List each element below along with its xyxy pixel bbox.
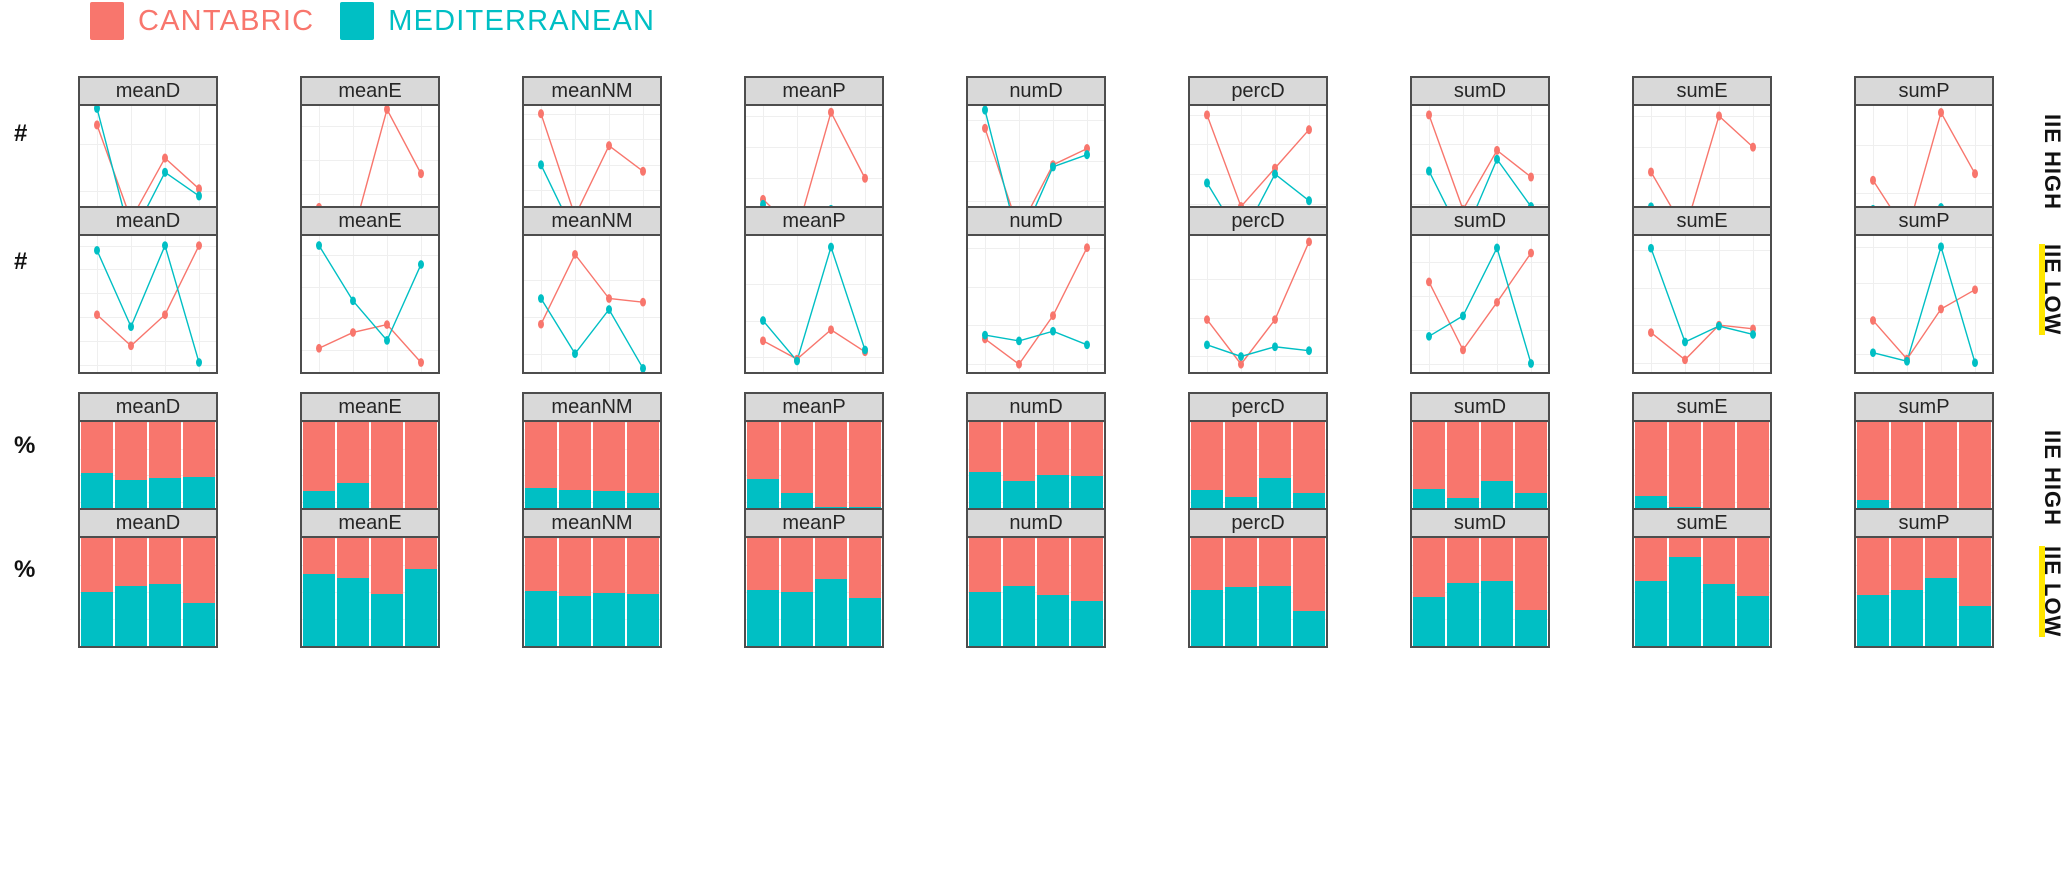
data-point-mediterranean bbox=[1870, 348, 1876, 357]
plot-area-bar-low-meanE: 0.000.250.500.751.00winsprsumaut bbox=[300, 538, 440, 648]
y-tick-mark bbox=[78, 470, 80, 472]
y-tick-mark bbox=[1410, 189, 1412, 191]
y-tick-mark bbox=[522, 567, 524, 569]
stacked-bar bbox=[815, 538, 846, 646]
x-tick-mark bbox=[609, 646, 611, 648]
data-point-mediterranean bbox=[384, 336, 390, 345]
x-tick-mark bbox=[1907, 372, 1909, 374]
y-tick-mark bbox=[300, 151, 302, 153]
y-axis-line-low-meanP: 81012 bbox=[744, 266, 746, 372]
y-tick-mark bbox=[1188, 329, 1190, 331]
bar-segment-cantabric bbox=[815, 538, 846, 579]
x-tick-mark bbox=[387, 646, 389, 648]
data-point-cantabric bbox=[162, 310, 168, 319]
legend-item-mediterranean: MEDITERRANEAN bbox=[340, 2, 655, 40]
bar-segment-cantabric bbox=[815, 422, 846, 507]
data-point-mediterranean bbox=[418, 260, 424, 269]
x-axis-bar-low-percD: winsprsumaut bbox=[1190, 646, 1326, 648]
x-axis-line-low-meanD: winsprsumaut bbox=[80, 372, 216, 374]
stacked-bar bbox=[405, 538, 436, 646]
y-axis-line-low-meanNM: 1.31.41.5 bbox=[522, 266, 524, 372]
strip-meanD: meanD bbox=[78, 76, 218, 106]
panel-line-low-percD: percD468winsprsumaut bbox=[1188, 206, 1328, 374]
x-tick-mark bbox=[319, 372, 321, 374]
bar-segment-cantabric bbox=[1071, 422, 1102, 476]
x-tick-mark bbox=[1275, 372, 1277, 374]
line-series-group bbox=[746, 236, 882, 372]
x-tick-mark bbox=[1275, 646, 1277, 648]
stacked-bar bbox=[1515, 538, 1546, 646]
chart-band-line-low: #IIE LOWmeanD3.54.04.55.05.56.0winsprsum… bbox=[0, 206, 2067, 374]
y-axis-bar-low-meanNM: 0.000.250.500.751.00 bbox=[522, 568, 524, 646]
stacked-bar bbox=[747, 538, 778, 646]
data-point-cantabric bbox=[1716, 111, 1722, 120]
strip-numD: numD bbox=[966, 508, 1106, 538]
data-point-mediterranean bbox=[1050, 162, 1056, 171]
bar-segment-mediterranean bbox=[371, 594, 402, 646]
y-tick-mark bbox=[300, 354, 302, 356]
plot-area-bar-low-sumD: 0.000.250.500.751.00winsprsumaut bbox=[1410, 538, 1550, 648]
strip-label-sumD: sumD bbox=[1454, 512, 1506, 535]
strip-label-sumE: sumE bbox=[1676, 80, 1727, 103]
x-tick-mark bbox=[1019, 372, 1021, 374]
data-point-cantabric bbox=[1494, 146, 1500, 155]
data-point-mediterranean bbox=[538, 294, 544, 303]
bar-segment-cantabric bbox=[1191, 422, 1222, 490]
strip-meanE: meanE bbox=[300, 76, 440, 106]
y-tick-mark bbox=[744, 606, 746, 608]
data-point-cantabric bbox=[1204, 110, 1210, 119]
bar-segment-cantabric bbox=[1635, 538, 1666, 581]
bar-segment-mediterranean bbox=[525, 591, 556, 646]
panel-bar-low-meanP: meanP0.000.250.500.751.00winsprsumaut bbox=[744, 508, 884, 648]
plot-area-bar-low-sumE: 0.000.250.500.751.00winsprsumaut bbox=[1632, 538, 1772, 648]
bar-segment-cantabric bbox=[1413, 422, 1444, 489]
bar-segment-mediterranean bbox=[1447, 583, 1478, 646]
data-point-cantabric bbox=[1972, 285, 1978, 294]
bar-segment-cantabric bbox=[1293, 538, 1324, 611]
strip-label-percD: percD bbox=[1231, 210, 1284, 233]
y-tick-mark bbox=[1410, 338, 1412, 340]
bar-segment-cantabric bbox=[1071, 538, 1102, 601]
x-tick-mark bbox=[165, 646, 167, 648]
strip-label-meanP: meanP bbox=[782, 396, 845, 419]
data-point-cantabric bbox=[1306, 237, 1312, 246]
panel-bar-low-sumD: sumD0.000.250.500.751.00winsprsumaut bbox=[1410, 508, 1550, 648]
x-tick-mark bbox=[131, 646, 133, 648]
strip-sumP: sumP bbox=[1854, 206, 1994, 236]
figure-root: CANTABRIC MEDITERRANEAN #IIE HIGHmeanD12… bbox=[0, 0, 2067, 889]
data-point-cantabric bbox=[1050, 311, 1056, 320]
data-point-mediterranean bbox=[862, 346, 868, 355]
row-label-line-low: IIE LOW bbox=[2039, 244, 2065, 335]
y-axis-bar-low-meanP: 0.000.250.500.751.00 bbox=[744, 568, 746, 646]
strip-label-meanE: meanE bbox=[338, 80, 401, 103]
y-tick-mark bbox=[1854, 606, 1856, 608]
y-tick-mark bbox=[1410, 470, 1412, 472]
y-tick-mark bbox=[744, 626, 746, 628]
y-axis-line-low-percD: 468 bbox=[1188, 266, 1190, 372]
data-point-cantabric bbox=[1750, 143, 1756, 152]
strip-label-meanNM: meanNM bbox=[551, 512, 632, 535]
y-tick-mark bbox=[1632, 489, 1634, 491]
y-tick-mark bbox=[78, 310, 80, 312]
plot-area-bar-low-meanNM: 0.000.250.500.751.00winsprsumaut bbox=[522, 538, 662, 648]
strip-label-meanNM: meanNM bbox=[551, 80, 632, 103]
x-axis-line-low-meanNM: winsprsumaut bbox=[524, 372, 660, 374]
bar-segment-mediterranean bbox=[559, 596, 590, 646]
x-tick-mark bbox=[97, 372, 99, 374]
strip-label-numD: numD bbox=[1009, 210, 1062, 233]
data-point-mediterranean bbox=[162, 168, 168, 177]
x-tick-mark bbox=[609, 372, 611, 374]
bar-segment-cantabric bbox=[1037, 422, 1068, 475]
strip-sumD: sumD bbox=[1410, 392, 1550, 422]
bar-segment-cantabric bbox=[405, 422, 436, 512]
data-point-mediterranean bbox=[1426, 167, 1432, 176]
data-point-cantabric bbox=[1870, 316, 1876, 325]
y-tick-mark bbox=[300, 587, 302, 589]
y-tick-mark bbox=[300, 280, 302, 282]
x-tick-mark bbox=[1497, 372, 1499, 374]
y-tick-mark bbox=[1188, 626, 1190, 628]
strip-label-meanP: meanP bbox=[782, 210, 845, 233]
line-series-group bbox=[1190, 236, 1326, 372]
strip-label-numD: numD bbox=[1009, 512, 1062, 535]
plot-area-line-low-sumE: 400 000800 0001 200 0001 600 000winsprsu… bbox=[1632, 236, 1772, 374]
x-axis-line-low-numD: winsprsumaut bbox=[968, 372, 1104, 374]
y-tick-mark bbox=[78, 626, 80, 628]
x-axis-bar-low-sumP: winsprsumaut bbox=[1856, 646, 1992, 648]
y-tick-mark bbox=[78, 606, 80, 608]
y-tick-mark bbox=[1188, 165, 1190, 167]
data-point-mediterranean bbox=[94, 106, 100, 113]
bar-segment-mediterranean bbox=[337, 578, 368, 646]
y-tick-mark bbox=[1632, 587, 1634, 589]
strip-meanP: meanP bbox=[744, 206, 884, 236]
y-tick-mark bbox=[78, 165, 80, 167]
x-tick-mark bbox=[199, 646, 201, 648]
panel-bar-low-percD: percD0.000.250.500.751.00winsprsumaut bbox=[1188, 508, 1328, 648]
y-axis-bar-low-sumP: 0.000.250.500.751.00 bbox=[1854, 568, 1856, 646]
bar-segment-mediterranean bbox=[1037, 595, 1068, 646]
bar-segment-mediterranean bbox=[1737, 596, 1768, 646]
y-tick-mark bbox=[522, 626, 524, 628]
y-tick-mark bbox=[1854, 166, 1856, 168]
bar-segment-cantabric bbox=[627, 538, 658, 594]
strip-sumE: sumE bbox=[1632, 206, 1772, 236]
strip-meanE: meanE bbox=[300, 206, 440, 236]
x-axis-line-low-meanP: winsprsumaut bbox=[746, 372, 882, 374]
bar-segment-mediterranean bbox=[1891, 590, 1922, 646]
data-point-mediterranean bbox=[1306, 196, 1312, 205]
x-tick-mark bbox=[319, 646, 321, 648]
x-axis-line-low-sumD: winsprsumaut bbox=[1412, 372, 1548, 374]
data-point-cantabric bbox=[1870, 176, 1876, 185]
panel-line-low-sumP: sumP150200250300winsprsumaut bbox=[1854, 206, 1994, 374]
y-tick-mark bbox=[966, 489, 968, 491]
y-tick-mark bbox=[78, 347, 80, 349]
y-tick-mark bbox=[966, 606, 968, 608]
bar-segment-mediterranean bbox=[149, 584, 180, 646]
legend-label-mediterranean: MEDITERRANEAN bbox=[388, 5, 655, 38]
data-point-cantabric bbox=[1306, 125, 1312, 134]
bar-segment-mediterranean bbox=[781, 592, 812, 646]
bar-segment-cantabric bbox=[81, 538, 112, 592]
x-tick-mark bbox=[643, 646, 645, 648]
bar-segment-cantabric bbox=[593, 422, 624, 491]
y-tick-mark bbox=[300, 470, 302, 472]
data-point-cantabric bbox=[1426, 110, 1432, 119]
strip-label-sumE: sumE bbox=[1676, 512, 1727, 535]
y-tick-mark bbox=[1188, 470, 1190, 472]
y-tick-mark bbox=[1188, 587, 1190, 589]
y-tick-mark bbox=[300, 626, 302, 628]
data-point-mediterranean bbox=[1238, 352, 1244, 361]
y-tick-mark bbox=[300, 329, 302, 331]
bar-segment-cantabric bbox=[1225, 422, 1256, 497]
y-tick-mark bbox=[966, 626, 968, 628]
bar-segment-cantabric bbox=[115, 422, 146, 480]
y-tick-mark bbox=[300, 178, 302, 180]
stacked-bar bbox=[1737, 538, 1768, 646]
data-point-mediterranean bbox=[1938, 242, 1944, 251]
bar-segment-mediterranean bbox=[1959, 606, 1990, 646]
gridline-horizontal bbox=[1190, 646, 1326, 647]
y-tick-mark bbox=[1188, 567, 1190, 569]
data-point-cantabric bbox=[538, 320, 544, 329]
strip-sumE: sumE bbox=[1632, 76, 1772, 106]
y-tick-mark bbox=[1854, 203, 1856, 205]
line-mediterranean bbox=[1429, 248, 1531, 364]
x-tick-mark bbox=[1497, 646, 1499, 648]
data-point-cantabric bbox=[1528, 249, 1534, 258]
y-tick-mark bbox=[1188, 298, 1190, 300]
data-point-cantabric bbox=[1528, 172, 1534, 181]
cantabric-swatch bbox=[90, 2, 124, 40]
x-tick-mark bbox=[1207, 372, 1209, 374]
panel-line-low-meanNM: meanNM1.31.41.5winsprsumaut bbox=[522, 206, 662, 374]
bar-segment-cantabric bbox=[525, 538, 556, 591]
plot-area-bar-low-sumP: 0.000.250.500.751.00winsprsumaut bbox=[1854, 538, 1994, 648]
y-tick-mark bbox=[78, 272, 80, 274]
line-cantabric bbox=[763, 330, 865, 359]
strip-sumD: sumD bbox=[1410, 206, 1550, 236]
bar-segment-cantabric bbox=[1037, 538, 1068, 595]
stacked-bar bbox=[1635, 538, 1666, 646]
stacked-bar bbox=[1037, 538, 1068, 646]
y-tick-mark bbox=[966, 274, 968, 276]
data-point-mediterranean bbox=[606, 305, 612, 314]
panel-line-low-meanD: meanD3.54.04.55.05.56.0winsprsumaut bbox=[78, 206, 218, 374]
strip-meanNM: meanNM bbox=[522, 206, 662, 236]
line-cantabric bbox=[1429, 115, 1531, 210]
y-tick-mark bbox=[522, 299, 524, 301]
data-point-cantabric bbox=[1204, 315, 1210, 324]
x-axis-bar-low-sumD: winsprsumaut bbox=[1412, 646, 1548, 648]
data-point-cantabric bbox=[1938, 305, 1944, 314]
x-tick-mark bbox=[1309, 372, 1311, 374]
data-point-mediterranean bbox=[1972, 358, 1978, 367]
data-point-mediterranean bbox=[794, 357, 800, 366]
x-tick-mark bbox=[831, 372, 833, 374]
data-point-mediterranean bbox=[1306, 346, 1312, 355]
plot-area-bar-low-meanD: 0.000.250.500.751.00winsprsumaut bbox=[78, 538, 218, 648]
data-point-mediterranean bbox=[316, 241, 322, 250]
x-axis-line-low-meanE: winsprsumaut bbox=[302, 372, 438, 374]
strip-label-sumP: sumP bbox=[1898, 210, 1949, 233]
plot-area-bar-low-numD: 0.000.250.500.751.00winsprsumaut bbox=[966, 538, 1106, 648]
bar-segment-cantabric bbox=[149, 422, 180, 478]
bar-segment-mediterranean bbox=[815, 579, 846, 646]
stacked-bar bbox=[303, 538, 334, 646]
y-tick-mark bbox=[522, 161, 524, 163]
strip-label-percD: percD bbox=[1231, 512, 1284, 535]
bar-segment-cantabric bbox=[781, 422, 812, 493]
bar-segment-cantabric bbox=[371, 422, 402, 510]
strip-numD: numD bbox=[966, 76, 1106, 106]
line-cantabric bbox=[541, 254, 643, 324]
bar-segment-cantabric bbox=[183, 538, 214, 603]
y-tick-mark bbox=[1632, 192, 1634, 194]
strip-label-sumD: sumD bbox=[1454, 396, 1506, 419]
x-tick-mark bbox=[1685, 372, 1687, 374]
strip-label-meanE: meanE bbox=[338, 512, 401, 535]
y-tick-mark bbox=[966, 304, 968, 306]
strip-label-sumP: sumP bbox=[1898, 80, 1949, 103]
bar-segment-mediterranean bbox=[303, 574, 334, 646]
stacked-bar bbox=[1959, 538, 1990, 646]
data-point-cantabric bbox=[572, 250, 578, 259]
y-axis-line-low-meanD: 3.54.04.55.05.56.0 bbox=[78, 266, 80, 372]
y-tick-mark bbox=[300, 489, 302, 491]
y-tick-mark bbox=[744, 489, 746, 491]
x-axis-line-low-sumP: winsprsumaut bbox=[1856, 372, 1992, 374]
y-tick-mark bbox=[522, 181, 524, 183]
data-point-mediterranean bbox=[1494, 244, 1500, 253]
data-point-mediterranean bbox=[162, 241, 168, 250]
x-axis-bar-low-meanE: winsprsumaut bbox=[302, 646, 438, 648]
bar-segment-mediterranean bbox=[1481, 581, 1512, 646]
strip-numD: numD bbox=[966, 206, 1106, 236]
y-axis-bar-low-meanD: 0.000.250.500.751.00 bbox=[78, 568, 80, 646]
y-tick-mark bbox=[1410, 587, 1412, 589]
bar-segment-cantabric bbox=[781, 538, 812, 592]
data-point-cantabric bbox=[196, 241, 202, 250]
strip-label-sumD: sumD bbox=[1454, 80, 1506, 103]
data-point-mediterranean bbox=[196, 358, 202, 367]
strip-label-meanP: meanP bbox=[782, 80, 845, 103]
y-tick-mark bbox=[78, 489, 80, 491]
data-point-cantabric bbox=[1648, 167, 1654, 176]
data-point-mediterranean bbox=[1272, 342, 1278, 351]
bar-segment-cantabric bbox=[1857, 422, 1888, 500]
y-tick-mark bbox=[78, 451, 80, 453]
line-mediterranean bbox=[985, 331, 1087, 345]
x-tick-mark bbox=[865, 372, 867, 374]
data-point-mediterranean bbox=[572, 349, 578, 358]
y-tick-mark bbox=[1410, 626, 1412, 628]
y-tick-mark bbox=[1410, 606, 1412, 608]
y-tick-mark bbox=[1632, 470, 1634, 472]
strip-label-meanD: meanD bbox=[116, 396, 180, 419]
y-tick-mark bbox=[522, 470, 524, 472]
plot-area-line-low-percD: 468winsprsumaut bbox=[1188, 236, 1328, 374]
strip-label-percD: percD bbox=[1231, 80, 1284, 103]
stacked-bar bbox=[1481, 538, 1512, 646]
x-tick-mark bbox=[1753, 372, 1755, 374]
strip-sumE: sumE bbox=[1632, 508, 1772, 538]
panel-bar-low-meanD: meanD0.000.250.500.751.00winsprsumaut bbox=[78, 508, 218, 648]
data-point-mediterranean bbox=[828, 243, 834, 252]
panel-line-low-numD: numD0.040.060.080.10winsprsumaut bbox=[966, 206, 1106, 374]
strip-meanE: meanE bbox=[300, 508, 440, 538]
bar-segment-mediterranean bbox=[1293, 611, 1324, 646]
data-point-mediterranean bbox=[350, 296, 356, 305]
gridline-horizontal bbox=[746, 646, 882, 647]
y-tick-mark bbox=[78, 291, 80, 293]
gridline-horizontal bbox=[1634, 646, 1770, 647]
y-tick-mark bbox=[1632, 364, 1634, 366]
x-tick-mark bbox=[1053, 646, 1055, 648]
x-tick-mark bbox=[985, 646, 987, 648]
stacked-bar bbox=[1857, 538, 1888, 646]
x-tick-mark bbox=[1053, 372, 1055, 374]
data-point-cantabric bbox=[1682, 355, 1688, 364]
panel-bar-low-sumE: sumE0.000.250.500.751.00winsprsumaut bbox=[1632, 508, 1772, 648]
data-point-mediterranean bbox=[1084, 340, 1090, 349]
y-tick-mark bbox=[744, 567, 746, 569]
bar-segment-cantabric bbox=[303, 538, 334, 574]
bar-segment-cantabric bbox=[1925, 538, 1956, 578]
bar-segment-mediterranean bbox=[1071, 601, 1102, 646]
data-point-mediterranean bbox=[1460, 312, 1466, 321]
y-tick-mark bbox=[966, 365, 968, 367]
x-tick-mark bbox=[1941, 372, 1943, 374]
bar-segment-cantabric bbox=[849, 538, 880, 598]
y-tick-mark bbox=[744, 451, 746, 453]
bar-segment-cantabric bbox=[1191, 538, 1222, 590]
x-tick-mark bbox=[541, 372, 543, 374]
x-axis-bar-low-sumE: winsprsumaut bbox=[1634, 646, 1770, 648]
bar-segment-mediterranean bbox=[747, 590, 778, 646]
y-tick-mark bbox=[1188, 189, 1190, 191]
data-point-mediterranean bbox=[1204, 178, 1210, 187]
legend: CANTABRIC MEDITERRANEAN bbox=[90, 2, 655, 40]
bar-segment-cantabric bbox=[1259, 538, 1290, 586]
y-axis-line-low-sumD: 6080100120 bbox=[1410, 266, 1412, 372]
data-point-mediterranean bbox=[1648, 244, 1654, 253]
x-tick-mark bbox=[575, 372, 577, 374]
bar-segment-mediterranean bbox=[849, 598, 880, 646]
y-tick-mark bbox=[1188, 142, 1190, 144]
y-axis-bar-low-meanE: 0.000.250.500.751.00 bbox=[300, 568, 302, 646]
strip-label-sumE: sumE bbox=[1676, 396, 1727, 419]
line-cantabric bbox=[319, 325, 421, 363]
stacked-bar bbox=[525, 538, 556, 646]
y-tick-mark bbox=[744, 587, 746, 589]
bar-segment-cantabric bbox=[1959, 538, 1990, 606]
row-label-line-high: IIE HIGH bbox=[2039, 114, 2065, 210]
y-tick-mark bbox=[966, 178, 968, 180]
data-point-cantabric bbox=[1938, 108, 1944, 117]
bar-segment-cantabric bbox=[747, 422, 778, 479]
strip-label-numD: numD bbox=[1009, 396, 1062, 419]
panel-line-low-sumD: sumD6080100120winsprsumaut bbox=[1410, 206, 1550, 374]
chart-band-bar-low: %IIE LOWmeanD0.000.250.500.751.00winsprs… bbox=[0, 508, 2067, 648]
y-tick-mark bbox=[966, 470, 968, 472]
bar-segment-cantabric bbox=[1225, 538, 1256, 587]
